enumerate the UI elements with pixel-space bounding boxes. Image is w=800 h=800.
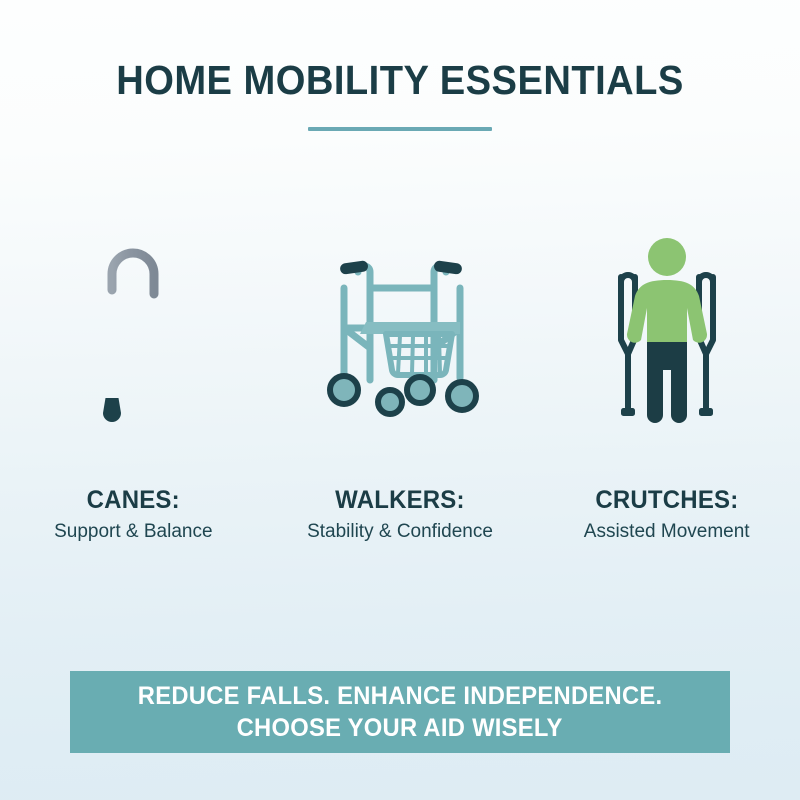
caption-title-canes: CANES:: [57, 485, 209, 515]
feature-column-crutches: CRUTCHES: Assisted Movement: [533, 215, 800, 544]
caption-walkers: WALKERS: Stability & Confidence: [307, 485, 493, 544]
banner-line-1: REDUCE FALLS. ENHANCE INDEPENDENCE.: [138, 680, 663, 712]
cane-artwork: [0, 215, 267, 430]
right-crutch-tip: [699, 408, 713, 416]
feature-column-canes: CANES: Support & Balance: [0, 215, 267, 544]
title-underline-rule: [308, 127, 492, 131]
right-crutch-icon: [699, 275, 713, 412]
person-legs: [647, 342, 687, 423]
page-title: HOME MOBILITY ESSENTIALS: [28, 58, 772, 103]
caption-title-crutches: CRUTCHES:: [587, 485, 746, 515]
left-crutch-tip: [621, 408, 635, 416]
poster-header: HOME MOBILITY ESSENTIALS: [0, 58, 800, 131]
cane-icon: [68, 230, 198, 430]
person-torso: [627, 280, 707, 346]
caption-title-walkers: WALKERS:: [311, 485, 489, 515]
banner-line-2: CHOOSE YOUR AID WISELY: [237, 712, 563, 744]
crutches-artwork: [533, 215, 800, 430]
caption-canes: CANES: Support & Balance: [54, 485, 212, 544]
caption-crutches: CRUTCHES: Assisted Movement: [584, 485, 750, 544]
caption-subtitle-walkers: Stability & Confidence: [307, 521, 493, 544]
left-crutch-icon: [621, 275, 635, 412]
person-head: [648, 238, 686, 276]
call-to-action-banner: REDUCE FALLS. ENHANCE INDEPENDENCE. CHOO…: [70, 671, 730, 753]
walker-artwork: [267, 215, 534, 430]
infographic-poster: HOME MOBILITY ESSENTIALS: [0, 0, 800, 800]
feature-columns: CANES: Support & Balance: [0, 215, 800, 544]
walker-icon: [300, 230, 500, 430]
caption-subtitle-canes: Support & Balance: [54, 521, 212, 544]
feature-column-walkers: WALKERS: Stability & Confidence: [267, 215, 534, 544]
caption-subtitle-crutches: Assisted Movement: [584, 521, 750, 544]
crutches-person-icon: [597, 230, 737, 430]
